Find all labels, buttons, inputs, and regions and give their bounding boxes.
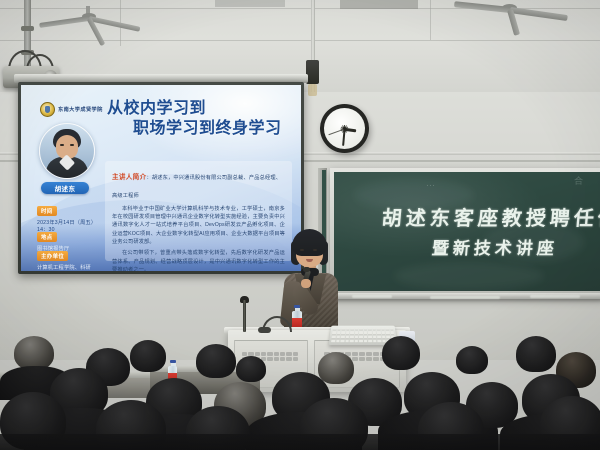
clock-center-pin: [343, 127, 346, 130]
audience-head: [196, 344, 236, 378]
slide-title-line-2: 职场学习到终身学习: [107, 119, 297, 139]
university-logo: 东南大学成贤学院: [40, 102, 103, 117]
chalk-dust: [530, 295, 580, 298]
fan-blade: [39, 16, 89, 28]
audience-head: [456, 346, 488, 374]
wall-clock: [320, 104, 369, 153]
meta-value-organizer: 计算机工程学院、科研处: [37, 265, 95, 272]
chalk-dust: [352, 295, 392, 298]
blackboard: … 合 胡述东客座教授聘任仪式 暨新技术讲座: [330, 168, 600, 298]
gooseneck-mic-base: [258, 327, 271, 333]
projector-pole-collar: [21, 26, 34, 31]
meta-label-time: 时间: [37, 206, 57, 216]
bio-paragraph-1: 本科毕业于中国矿业大学计算机科学与技术专业，工学硕士，南京多年在校园研发项目管理…: [112, 205, 285, 247]
audience-head: [382, 336, 420, 370]
audience-head: [14, 336, 54, 370]
audience-front-shoulders: [0, 434, 600, 450]
speaker-name-badge: 胡述东: [41, 182, 89, 194]
presentation-slide: 东南大学成贤学院 从校内学习到 职场学习到终身学习 胡述东: [21, 85, 301, 271]
meta-label-place: 地点: [37, 232, 57, 242]
presenter-eye: [300, 249, 304, 251]
audience-head: [318, 352, 354, 384]
projection-screen[interactable]: 东南大学成贤学院 从校内学习到 职场学习到终身学习 胡述东: [18, 82, 304, 274]
fan-blade: [454, 1, 510, 13]
portrait-eye: [60, 144, 64, 146]
ceiling-fan: [450, 0, 570, 30]
blackboard-line-2: 暨新技术讲座: [431, 234, 559, 259]
blackboard-surface: … 合 胡述东客座教授聘任仪式 暨新技术讲座: [334, 172, 600, 291]
speaker-name-text: 胡述东: [55, 183, 76, 193]
ceiling-panel-line: [430, 0, 431, 40]
bio-heading-row: 主讲人简介：胡述东，中兴通讯股份有限公司副总裁、产品总经理、高级工程师: [112, 166, 285, 202]
meta-label-organizer: 主办单位: [37, 251, 68, 261]
fan-blade: [510, 7, 568, 21]
presenter-eye: [313, 249, 317, 251]
audience-head: [236, 356, 266, 382]
bio-heading: 主讲人简介: [112, 174, 146, 181]
slide-title: 从校内学习到 职场学习到终身学习: [107, 99, 297, 138]
presenter-hand: [301, 279, 311, 288]
audience-head: [130, 340, 166, 372]
portrait-eye: [70, 144, 74, 146]
microphone-head-icon: [303, 267, 310, 272]
university-logo-text: 东南大学成贤学院: [58, 106, 103, 113]
university-crest-icon: [40, 102, 55, 117]
presenter: [278, 229, 344, 334]
ceiling-vent: [340, 0, 418, 9]
slide-title-line-1: 从校内学习到: [107, 99, 297, 119]
ceiling-vent: [215, 0, 285, 7]
speaker-portrait: [39, 123, 95, 179]
ceiling-panel-line: [0, 40, 600, 41]
blackboard-line-1: 胡述东客座教授聘任仪式: [381, 202, 600, 231]
podium-microphone-stand: [243, 300, 246, 332]
chalk-dust: [430, 296, 500, 299]
clock-face: [324, 108, 365, 149]
bio-paragraph-2: 在公司带领下，曾重点带头落成数字化转型，先后数字化研发产品运营体系、产品规划、经…: [112, 249, 285, 271]
ceiling-fan: [36, 6, 146, 40]
presenter-hair: [292, 229, 327, 256]
speaker-bracket: [308, 84, 317, 96]
slide-meta-organizer: 主办单位 计算机工程学院、科研处: [37, 245, 95, 271]
speaker-bio-card: 主讲人简介：胡述东，中兴通讯股份有限公司副总裁、产品总经理、高级工程师 本科毕业…: [105, 161, 292, 261]
lecture-hall-photo: 东南大学成贤学院 从校内学习到 职场学习到终身学习 胡述东: [0, 0, 600, 450]
audience-head: [516, 336, 556, 372]
